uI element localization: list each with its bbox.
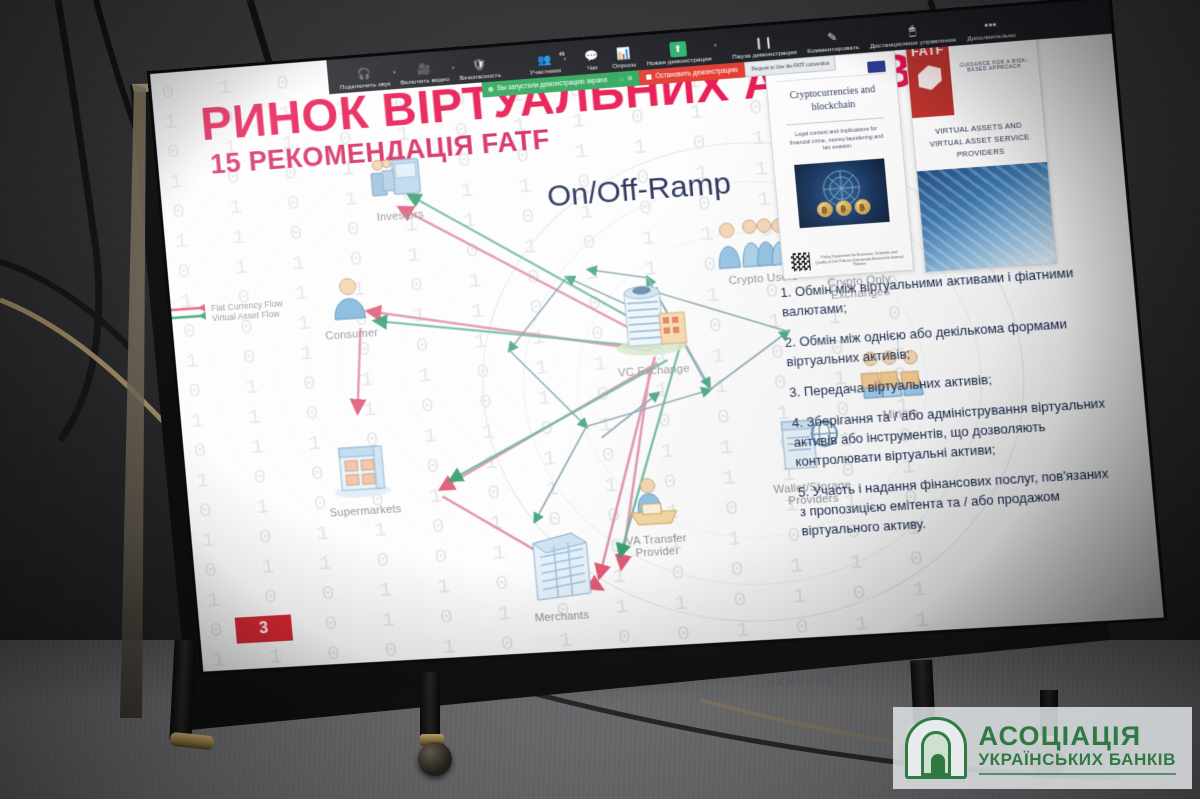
watermark-underline — [979, 773, 1177, 775]
watermark-line-2: УКРАЇНСЬКИХ БАНКІВ — [979, 750, 1177, 770]
photo-scene: 0 1 0 1 0 1 1 0 1 0 1 0 1 1 0 1 1 0 0 1 … — [0, 0, 1200, 799]
watermark-line-1: АСОЦІАЦІЯ — [979, 722, 1177, 750]
scene-vignette — [0, 0, 1200, 799]
association-watermark: АСОЦІАЦІЯ УКРАЇНСЬКИХ БАНКІВ — [893, 707, 1193, 789]
arch-building-icon — [905, 717, 967, 779]
watermark-text: АСОЦІАЦІЯ УКРАЇНСЬКИХ БАНКІВ — [979, 722, 1177, 775]
